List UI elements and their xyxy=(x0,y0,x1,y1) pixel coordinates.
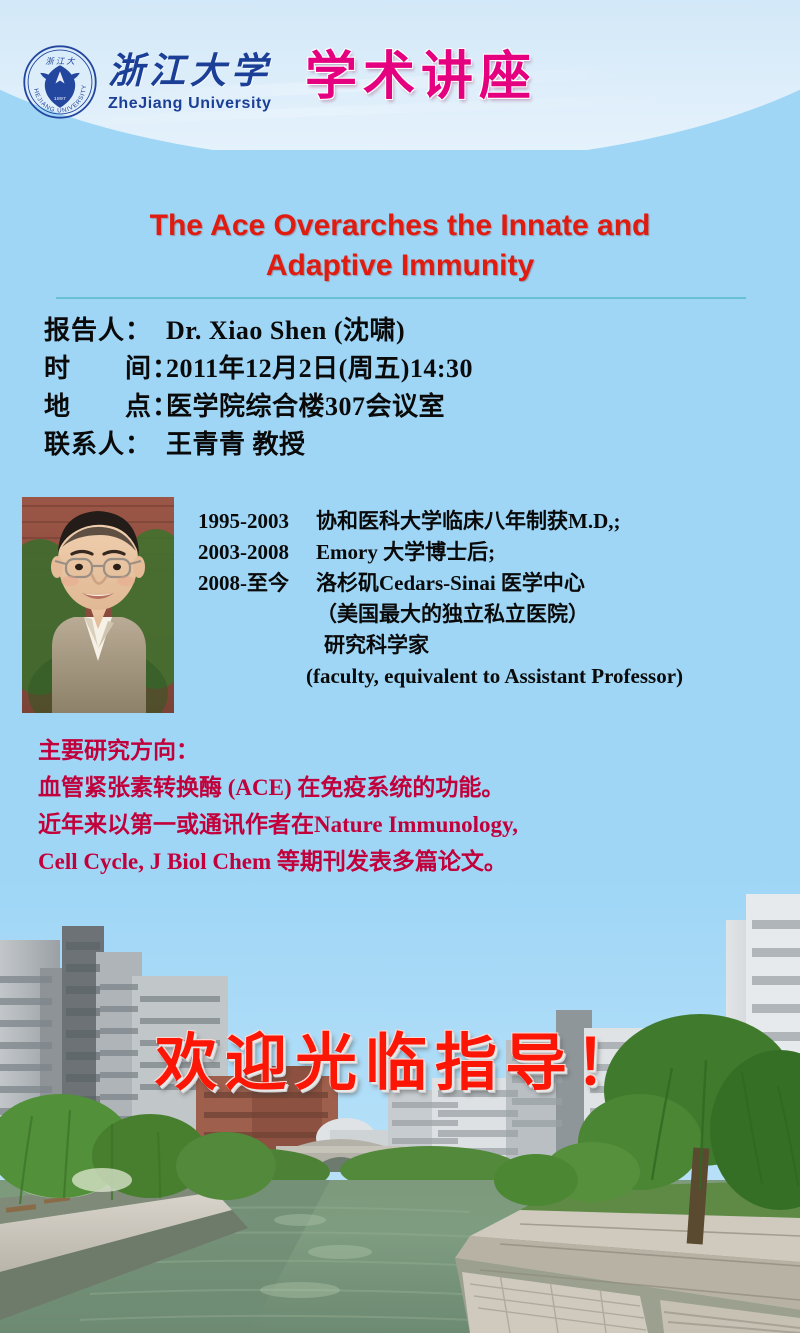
campus-photo xyxy=(0,880,800,1333)
bio-row: 1995-2003 协和医科大学临床八年制获M.D,; xyxy=(198,506,683,537)
event-details: 报告人： Dr. Xiao Shen (沈啸) 时 间： 2011年12月2日(… xyxy=(44,312,473,464)
detail-value-contact: 王青青 教授 xyxy=(166,426,306,464)
detail-row-time: 时 间： 2011年12月2日(周五)14:30 xyxy=(44,350,473,388)
detail-label-time: 时 间： xyxy=(44,350,166,388)
bio-extra-line: 研究科学家 xyxy=(198,630,683,661)
bio-row: 2008-至今 洛杉矶Cedars-Sinai 医学中心 xyxy=(198,568,683,599)
bio-year: 2008-至今 xyxy=(198,568,316,599)
bio-text: 洛杉矶Cedars-Sinai 医学中心 xyxy=(316,568,585,599)
bio-row: 2003-2008 Emory 大学博士后; xyxy=(198,537,683,568)
lecture-title-line-2: Adaptive Immunity xyxy=(60,246,740,286)
detail-value-speaker: Dr. Xiao Shen (沈啸) xyxy=(166,312,405,350)
campus-canal-illustration xyxy=(0,880,800,1333)
title-divider xyxy=(56,297,746,299)
research-summary: 主要研究方向： 血管紧张素转换酶 (ACE) 在免疫系统的功能。 近年来以第一或… xyxy=(38,732,518,880)
research-line: 近年来以第一或通讯作者在Nature Immunology, xyxy=(38,806,518,843)
university-name-cn: 浙江大学 xyxy=(108,53,272,89)
detail-row-location: 地 点： 医学院综合楼307会议室 xyxy=(44,388,473,426)
lecture-title-line-1: The Ace Overarches the Innate and xyxy=(60,206,740,246)
detail-row-speaker: 报告人： Dr. Xiao Shen (沈啸) xyxy=(44,312,473,350)
bio-text: 协和医科大学临床八年制获M.D,; xyxy=(316,506,620,537)
detail-label-location: 地 点： xyxy=(44,388,166,426)
research-line: Cell Cycle, J Biol Chem 等期刊发表多篇论文。 xyxy=(38,843,518,880)
speaker-portrait-illustration xyxy=(22,497,174,713)
detail-value-location: 医学院综合楼307会议室 xyxy=(166,388,445,426)
bio-year: 1995-2003 xyxy=(198,506,316,537)
speaker-photo xyxy=(22,497,174,713)
university-name-en: ZheJiang University xyxy=(108,96,272,112)
detail-row-contact: 联系人： 王青青 教授 xyxy=(44,426,473,464)
detail-value-time: 2011年12月2日(周五)14:30 xyxy=(166,350,473,388)
logo-wordmark: 浙江大学 ZheJiang University xyxy=(108,53,272,112)
bio-extra-line: (faculty, equivalent to Assistant Profes… xyxy=(198,661,683,692)
speaker-biography: 1995-2003 协和医科大学临床八年制获M.D,; 2003-2008 Em… xyxy=(198,506,683,692)
detail-label-contact: 联系人： xyxy=(44,426,166,464)
bio-text: Emory 大学博士后; xyxy=(316,537,495,568)
bio-year: 2003-2008 xyxy=(198,537,316,568)
banner-title: 学术讲座 xyxy=(305,34,537,109)
svg-text:浙 江 大: 浙 江 大 xyxy=(45,57,76,66)
seal-year: 1897 xyxy=(54,96,66,102)
detail-label-speaker: 报告人： xyxy=(44,312,166,350)
bio-extra-line: （美国最大的独立私立医院） xyxy=(198,599,683,630)
poster-header: 浙 江 大 1897 ZHEJIANG UNIVERSITY 浙江大学 ZheJ… xyxy=(0,0,800,176)
lecture-poster: 浙 江 大 1897 ZHEJIANG UNIVERSITY 浙江大学 ZheJ… xyxy=(0,0,800,1333)
research-line: 血管紧张素转换酶 (ACE) 在免疫系统的功能。 xyxy=(38,769,518,806)
research-line: 主要研究方向： xyxy=(38,732,518,769)
header-bottom-fill xyxy=(0,150,800,176)
university-logo-lockup: 浙 江 大 1897 ZHEJIANG UNIVERSITY 浙江大学 ZheJ… xyxy=(22,44,272,120)
lecture-title: The Ace Overarches the Innate and Adapti… xyxy=(60,206,740,286)
zhejiang-university-seal-icon: 浙 江 大 1897 ZHEJIANG UNIVERSITY xyxy=(22,44,98,120)
